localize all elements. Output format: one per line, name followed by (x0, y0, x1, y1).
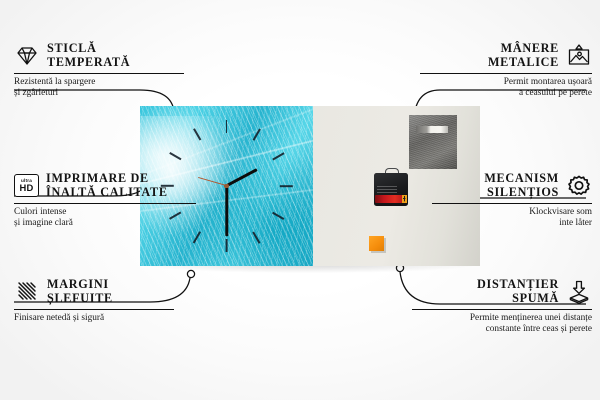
feature-metal-handles: MÂNERE METALICE Permit montarea ușoară a… (420, 42, 592, 99)
hanging-frame-icon (566, 43, 592, 69)
feature-header: ultra HD IMPRIMARE DE ÎNALTĂ CALITATE (14, 172, 196, 199)
gear-icon (566, 173, 592, 199)
feature-description: Permite menținerea unei distanțe constan… (412, 313, 592, 335)
clock-hub (224, 184, 228, 188)
feature-divider (14, 203, 196, 204)
feature-description: Permit montarea ușoară a ceasului pe per… (420, 77, 592, 99)
feature-title: MECANISM SILENȚIOS (484, 172, 559, 199)
feature-title: DISTANȚIER SPUMĂ (477, 278, 559, 305)
clock-second-hand (197, 177, 226, 186)
feature-header: MARGINI ȘLEFUITE (14, 278, 174, 305)
battery-plus-icon (403, 196, 405, 201)
feature-title: MÂNERE METALICE (488, 42, 559, 69)
dial-tick (226, 239, 228, 252)
feature-divider (14, 309, 174, 310)
dial-tick (272, 212, 284, 220)
feature-divider (14, 73, 184, 74)
product-feature-infographic: STICLĂ TEMPERATĂ Rezistentă la spargere … (0, 0, 600, 400)
foam-spacer-icon (566, 279, 592, 305)
feature-description: Finisare netedă și sigură (14, 313, 174, 324)
feature-divider (412, 309, 592, 310)
feature-foam-spacer: DISTANȚIER SPUMĂ Permite menținerea unei… (412, 278, 592, 335)
polished-edge-icon (14, 279, 40, 305)
dial-tick (193, 232, 201, 244)
dial-tick (193, 128, 201, 140)
feature-title: MARGINI ȘLEFUITE (47, 278, 113, 305)
foam-spacer (369, 236, 384, 251)
battery (375, 195, 407, 203)
feature-title: IMPRIMARE DE ÎNALTĂ CALITATE (46, 172, 168, 199)
feature-high-quality-print: ultra HD IMPRIMARE DE ÎNALTĂ CALITATE Cu… (14, 172, 196, 229)
feature-header: DISTANȚIER SPUMĂ (412, 278, 592, 305)
feature-header: MECANISM SILENȚIOS (432, 172, 592, 199)
dial-tick (226, 120, 228, 133)
feature-divider (420, 73, 592, 74)
feature-polished-edges: MARGINI ȘLEFUITE Finisare netedă și sigu… (14, 278, 174, 324)
badge-large-text: HD (20, 183, 34, 193)
metal-hanging-plate (409, 115, 457, 169)
dial-tick (280, 185, 293, 187)
feature-divider (432, 203, 592, 204)
clock-minute-hand (225, 186, 228, 236)
dial-tick (272, 152, 284, 160)
ultra-hd-badge-icon: ultra HD (14, 174, 39, 197)
feature-silent-mechanism: MECANISM SILENȚIOS Klockvisare som inte … (432, 172, 592, 229)
clock-hour-hand (226, 169, 258, 188)
feature-header: MÂNERE METALICE (420, 42, 592, 69)
clock-mechanism (374, 168, 408, 206)
feature-description: Klockvisare som inte låter (432, 207, 592, 229)
diamond-icon (14, 43, 40, 69)
feature-description: Rezistentă la spargere și zgârieturi (14, 77, 184, 99)
feature-header: STICLĂ TEMPERATĂ (14, 42, 184, 69)
dial-tick (252, 232, 260, 244)
dial-tick (252, 128, 260, 140)
hanger-slot (416, 126, 448, 133)
feature-description: Culori intense și imagine clară (14, 207, 196, 229)
feature-tempered-glass: STICLĂ TEMPERATĂ Rezistentă la spargere … (14, 42, 184, 99)
mechanism-body (374, 173, 408, 206)
dial-tick (169, 152, 181, 160)
feature-title: STICLĂ TEMPERATĂ (47, 42, 130, 69)
